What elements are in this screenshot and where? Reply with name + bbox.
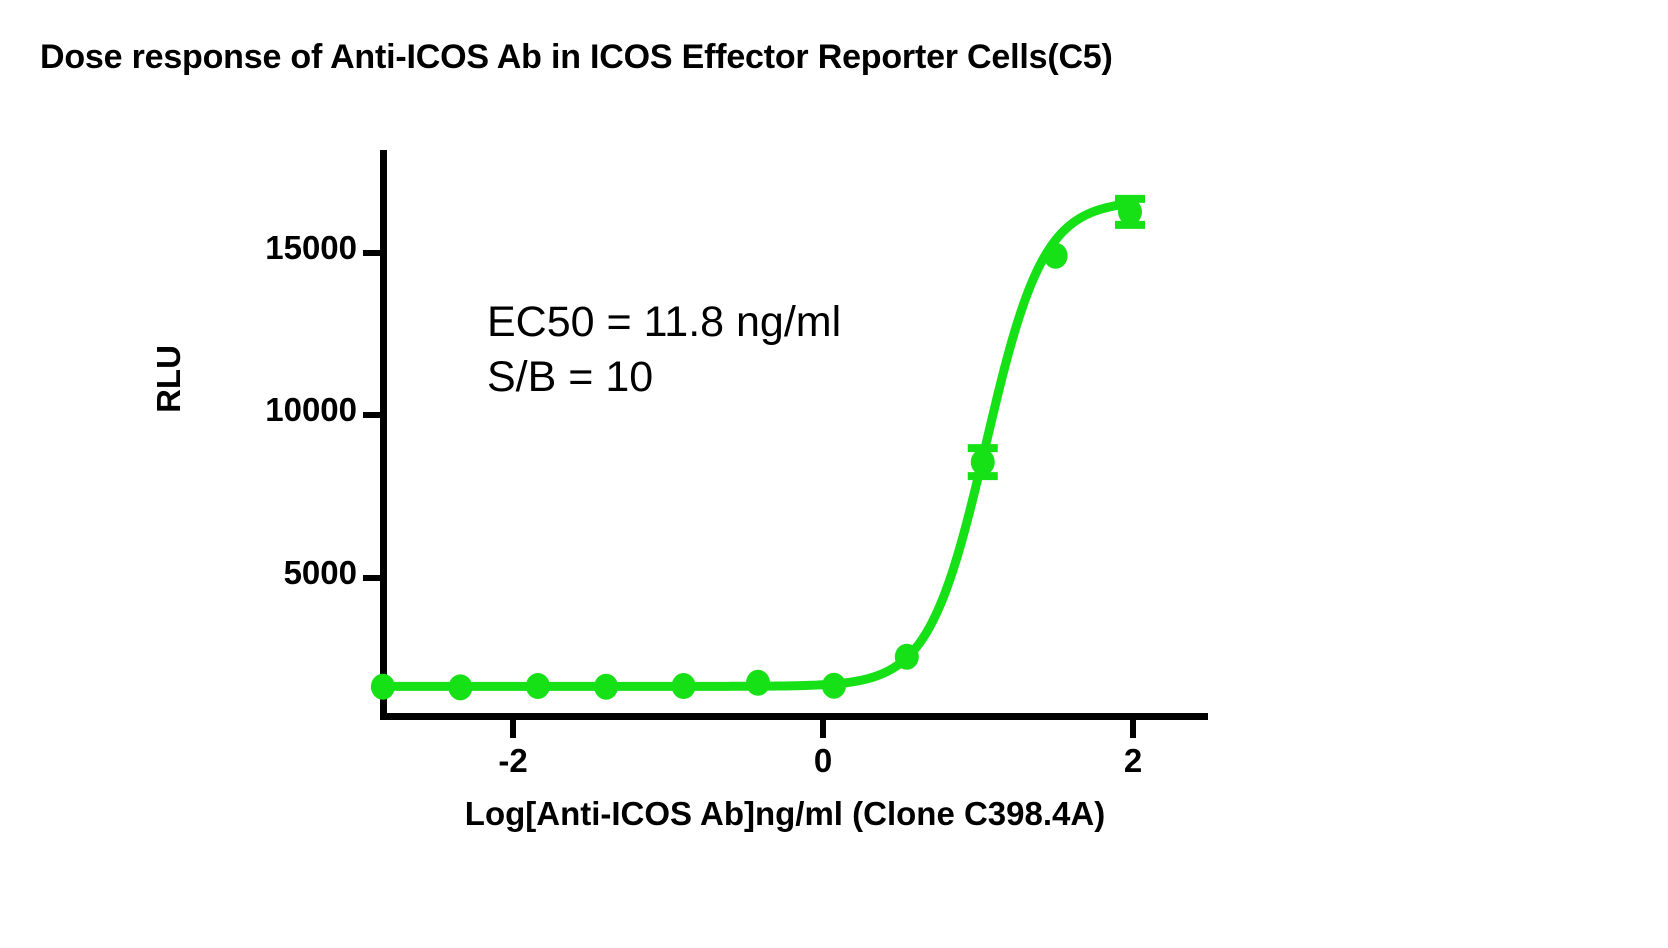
data-points-group <box>371 199 1142 700</box>
data-point <box>1044 243 1068 269</box>
data-point <box>594 674 618 700</box>
plot-area: 15000 10000 5000 -2 0 2 RLU Log[Anti-ICO… <box>0 0 1668 948</box>
data-point <box>371 674 395 700</box>
data-point <box>746 670 770 696</box>
error-bars-group <box>383 199 1145 690</box>
data-point <box>971 449 995 475</box>
data-point <box>526 673 550 699</box>
data-point <box>448 674 472 700</box>
data-point <box>895 644 919 670</box>
data-point <box>1118 199 1142 225</box>
dose-response-curve <box>383 204 1130 687</box>
figure-root: Dose response of Anti-ICOS Ab in ICOS Ef… <box>0 0 1668 948</box>
data-point <box>822 673 846 699</box>
data-series-layer <box>0 0 1668 948</box>
data-point <box>672 673 696 699</box>
